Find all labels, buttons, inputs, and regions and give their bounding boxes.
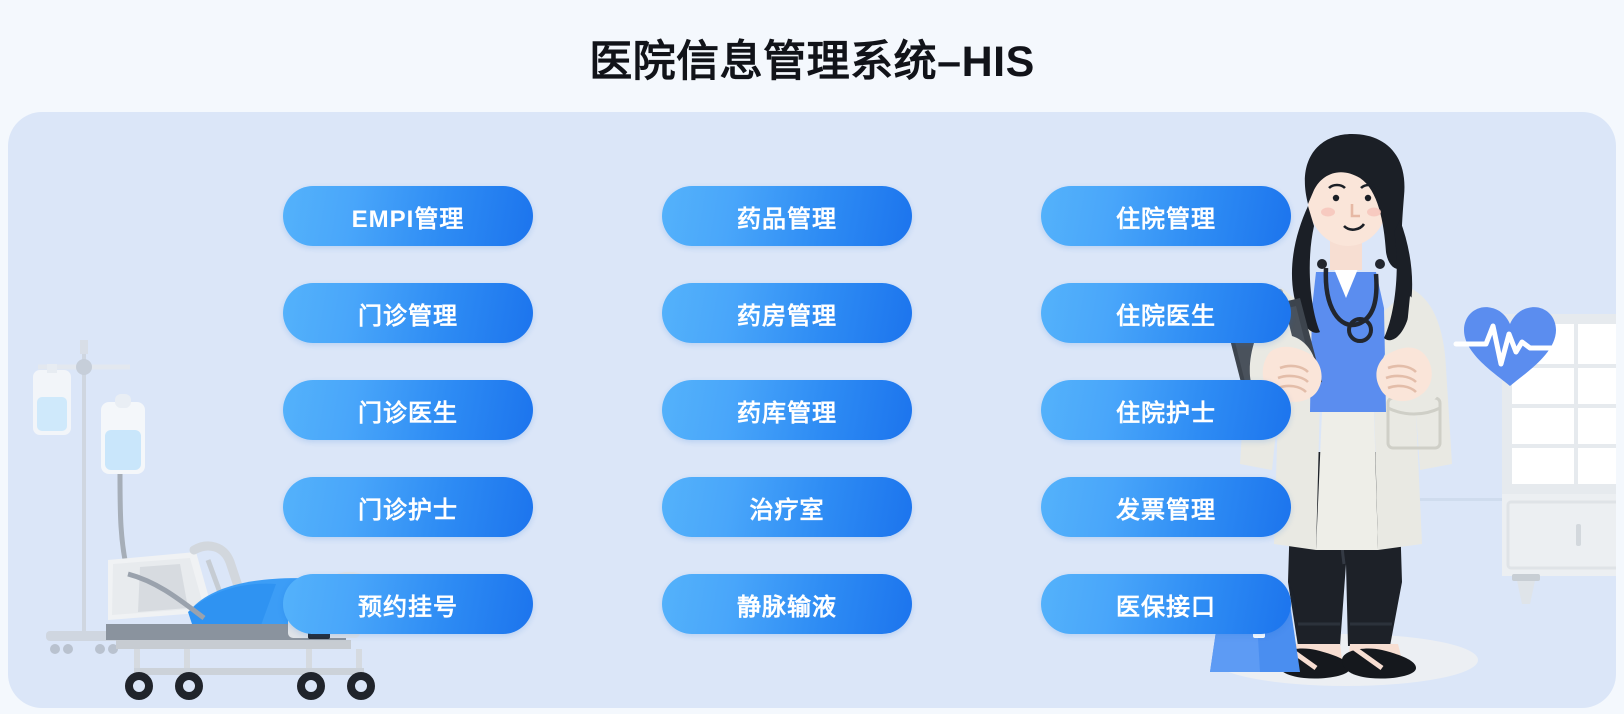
module-button-zhuyuan-guanli[interactable]: 住院管理 xyxy=(1041,186,1291,246)
bed-wheels-icon xyxy=(129,676,371,696)
iv-stand-icon xyxy=(33,340,145,654)
page-title: 医院信息管理系统–HIS xyxy=(0,34,1624,90)
module-button-zhuyuan-hushi[interactable]: 住院护士 xyxy=(1041,380,1291,440)
module-button-menzhen-hushi[interactable]: 门诊护士 xyxy=(283,477,533,537)
module-button-empi-guanli[interactable]: EMPI管理 xyxy=(283,186,533,246)
module-button-fapiao-guanli[interactable]: 发票管理 xyxy=(1041,477,1291,537)
module-button-yibao-jiekou[interactable]: 医保接口 xyxy=(1041,574,1291,634)
module-button-zhiliaoshi[interactable]: 治疗室 xyxy=(662,477,912,537)
module-button-yaopin-guanli[interactable]: 药品管理 xyxy=(662,186,912,246)
module-button-yuyue-guahao[interactable]: 预约挂号 xyxy=(283,574,533,634)
module-button-grid: EMPI管理 药品管理 住院管理 门诊管理 药房管理 住院医生 门诊医生 药库管… xyxy=(283,186,1291,634)
heart-ecg-icon xyxy=(1456,307,1562,386)
module-button-menzhen-guanli[interactable]: 门诊管理 xyxy=(283,283,533,343)
window-cabinet-icon xyxy=(1502,314,1616,604)
module-button-menzhen-yisheng[interactable]: 门诊医生 xyxy=(283,380,533,440)
module-button-yaoku-guanli[interactable]: 药库管理 xyxy=(662,380,912,440)
module-button-zhuyuan-yisheng[interactable]: 住院医生 xyxy=(1041,283,1291,343)
module-button-jingmai-shuye[interactable]: 静脉输液 xyxy=(662,574,912,634)
module-button-yaofang-guanli[interactable]: 药房管理 xyxy=(662,283,912,343)
